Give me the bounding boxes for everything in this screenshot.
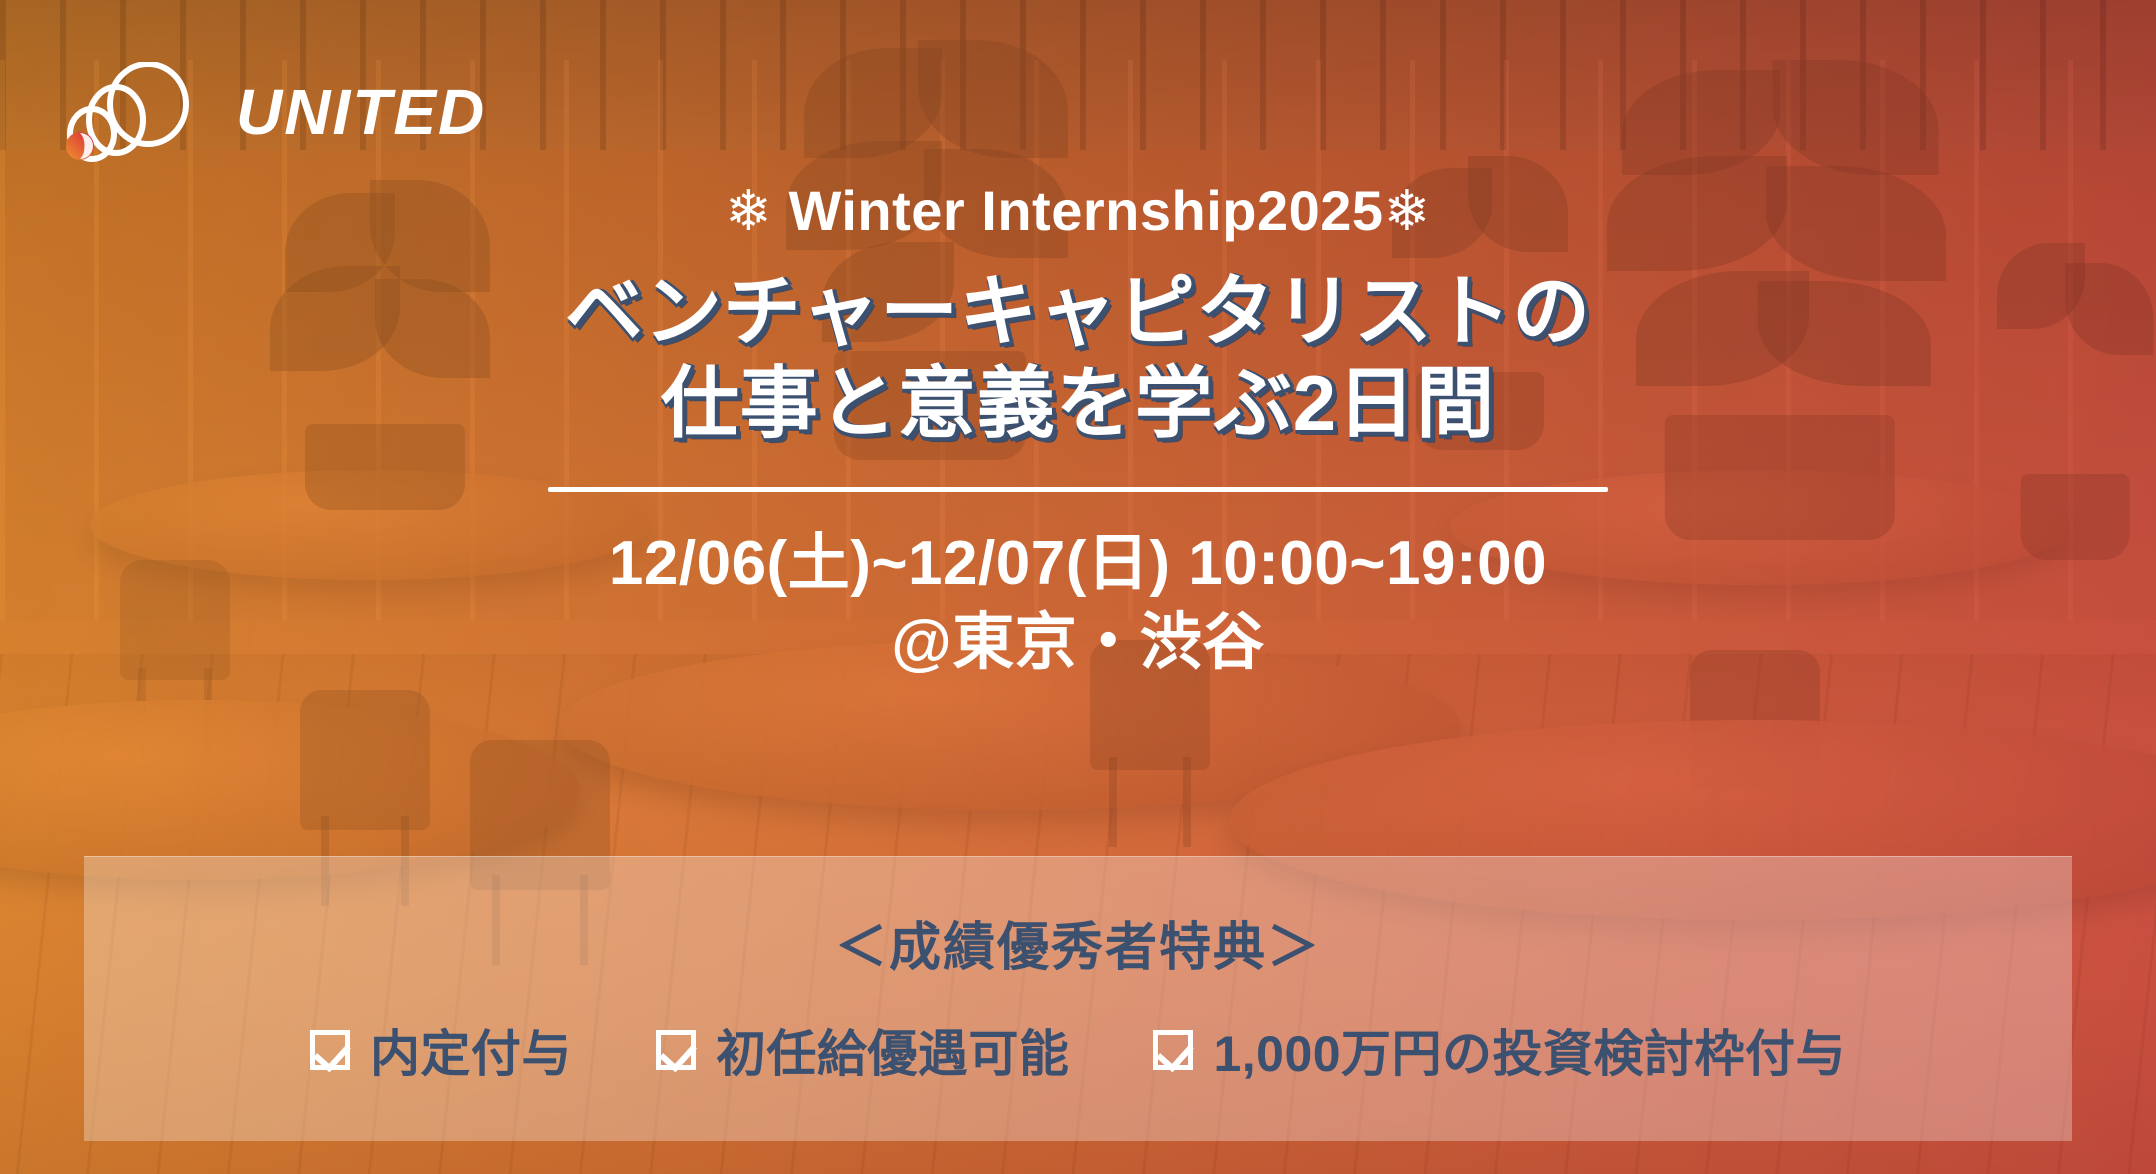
- schedule-location: @東京・渋谷: [0, 603, 2156, 682]
- page-title: ベンチャーキャピタリストの 仕事と意義を学ぶ2日間: [0, 265, 2156, 449]
- benefits-panel: ＜成績優秀者特典＞ 内定付与 初任給優遇可能 1,000万円の投資検討枠付与: [84, 856, 2072, 1141]
- poster-content: UNITED ❄ Winter Internship2025❄ ベンチャーキャピ…: [0, 0, 2156, 1174]
- benefits-heading: ＜成績優秀者特典＞: [84, 905, 2072, 980]
- benefit-item: 1,000万円の投資検討枠付与: [1153, 1014, 1846, 1086]
- schedule-dates: 12/06(土)~12/07(日) 10:00~19:00: [0, 524, 2156, 603]
- checkbox-checked-icon: [1153, 1030, 1193, 1070]
- united-rings-logo-icon: [58, 62, 218, 162]
- checkbox-checked-icon: [310, 1030, 350, 1070]
- title-line-2: 仕事と意義を学ぶ2日間: [0, 357, 2156, 449]
- hero-headline: ❄ Winter Internship2025❄ ベンチャーキャピタリストの 仕…: [0, 180, 2156, 683]
- benefits-list: 内定付与 初任給優遇可能 1,000万円の投資検討枠付与: [84, 1014, 2072, 1086]
- internship-poster: UNITED ❄ Winter Internship2025❄ ベンチャーキャピ…: [0, 0, 2156, 1174]
- benefit-item: 内定付与: [310, 1014, 572, 1086]
- event-label: ❄ Winter Internship2025❄: [0, 180, 2156, 243]
- united-wordmark: UNITED: [236, 80, 486, 144]
- benefit-label: 内定付与: [370, 1014, 572, 1086]
- title-line-1: ベンチャーキャピタリストの: [0, 265, 2156, 357]
- benefit-label: 初任給優遇可能: [716, 1014, 1070, 1086]
- divider: [548, 487, 1608, 492]
- schedule-block: 12/06(土)~12/07(日) 10:00~19:00 @東京・渋谷: [0, 524, 2156, 683]
- united-logo: UNITED: [58, 62, 486, 162]
- benefit-label: 1,000万円の投資検討枠付与: [1213, 1014, 1846, 1086]
- benefit-item: 初任給優遇可能: [656, 1014, 1070, 1086]
- checkbox-checked-icon: [656, 1030, 696, 1070]
